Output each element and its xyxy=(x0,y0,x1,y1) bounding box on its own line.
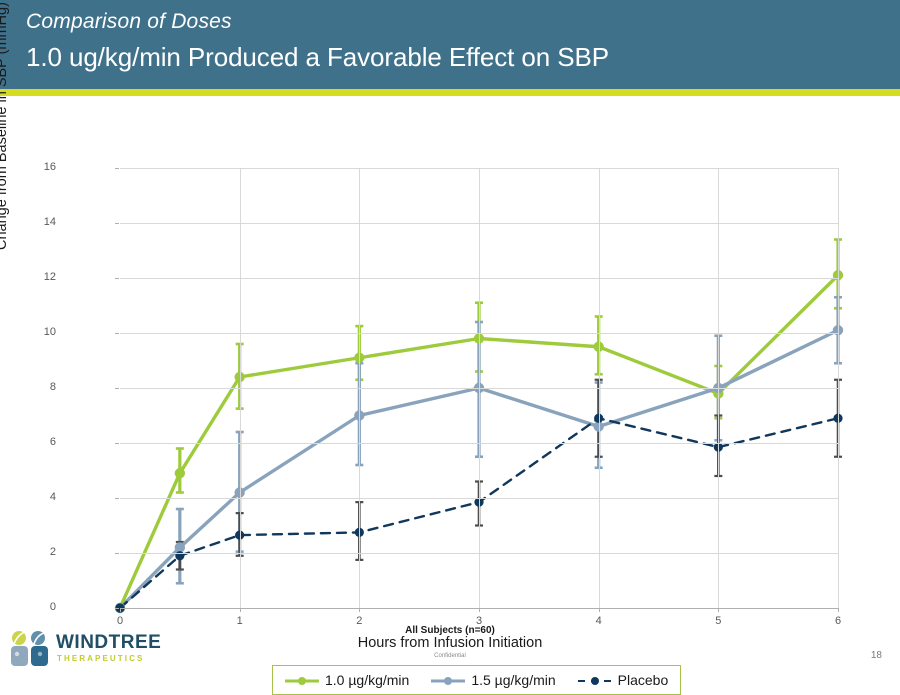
legend-item-dose-1-0[interactable]: 1.0 µg/kg/min xyxy=(285,672,409,688)
x-axis-tick-mark xyxy=(599,608,600,612)
data-point xyxy=(175,468,185,478)
y-axis-tick-label: 16 xyxy=(16,161,56,173)
footer-confidential: Confidential xyxy=(0,653,900,659)
y-axis-tick-label: 14 xyxy=(16,216,56,228)
gridline-vertical xyxy=(240,168,241,608)
gridline-vertical xyxy=(599,168,600,608)
y-axis-tick-mark xyxy=(115,608,119,609)
chart-legend: 1.0 µg/kg/min 1.5 µg/kg/min Placebo xyxy=(272,665,681,695)
x-axis-tick-mark xyxy=(240,608,241,612)
header-divider xyxy=(0,89,900,96)
page-title: 1.0 ug/kg/min Produced a Favorable Effec… xyxy=(26,42,609,73)
y-axis-tick-label: 10 xyxy=(16,326,56,338)
x-axis-tick-mark xyxy=(479,608,480,612)
legend-label-placebo: Placebo xyxy=(618,672,669,688)
legend-swatch-dose-1-0 xyxy=(285,674,319,686)
y-axis-title: Change from Baseline in SBP (mmHg) xyxy=(0,2,10,250)
gridline-vertical xyxy=(838,168,839,608)
y-axis-tick-mark xyxy=(115,278,119,279)
footer-subjects-note: All Subjects (n=60) xyxy=(0,625,900,636)
y-axis-tick-label: 2 xyxy=(16,546,56,558)
legend-item-dose-1-5[interactable]: 1.5 µg/kg/min xyxy=(431,672,555,688)
y-axis-tick-label: 6 xyxy=(16,436,56,448)
windtree-logo: WINDTREE THERAPEUTICS xyxy=(10,630,160,670)
x-axis-tick-mark xyxy=(120,608,121,612)
data-point xyxy=(175,542,185,552)
chart-container: Change from Baseline in SBP (mmHg) Hours… xyxy=(0,100,900,605)
y-axis-tick-mark xyxy=(115,168,119,169)
y-axis-tick-mark xyxy=(115,333,119,334)
gridline-vertical xyxy=(479,168,480,608)
y-axis-tick-label: 4 xyxy=(16,491,56,503)
plot-area xyxy=(120,168,838,608)
y-axis-tick-mark xyxy=(115,223,119,224)
gridline-vertical xyxy=(359,168,360,608)
y-axis-tick-mark xyxy=(115,443,119,444)
y-axis-tick-label: 8 xyxy=(16,381,56,393)
legend-swatch-placebo xyxy=(578,674,612,686)
y-axis-tick-mark xyxy=(115,498,119,499)
y-axis-tick-label: 0 xyxy=(16,601,56,613)
gridline-vertical xyxy=(718,168,719,608)
legend-label-dose-1-0: 1.0 µg/kg/min xyxy=(325,672,409,688)
x-axis-tick-mark xyxy=(718,608,719,612)
header-eyebrow: Comparison of Doses xyxy=(26,10,232,34)
slide-header: Comparison of Doses 1.0 ug/kg/min Produc… xyxy=(0,0,900,89)
x-axis-tick-mark xyxy=(359,608,360,612)
y-axis-tick-label: 12 xyxy=(16,271,56,283)
legend-item-placebo[interactable]: Placebo xyxy=(578,672,669,688)
page-number: 18 xyxy=(871,650,882,661)
y-axis-tick-mark xyxy=(115,553,119,554)
y-axis-tick-mark xyxy=(115,388,119,389)
legend-swatch-dose-1-5 xyxy=(431,674,465,686)
legend-label-dose-1-5: 1.5 µg/kg/min xyxy=(471,672,555,688)
x-axis-tick-mark xyxy=(838,608,839,612)
